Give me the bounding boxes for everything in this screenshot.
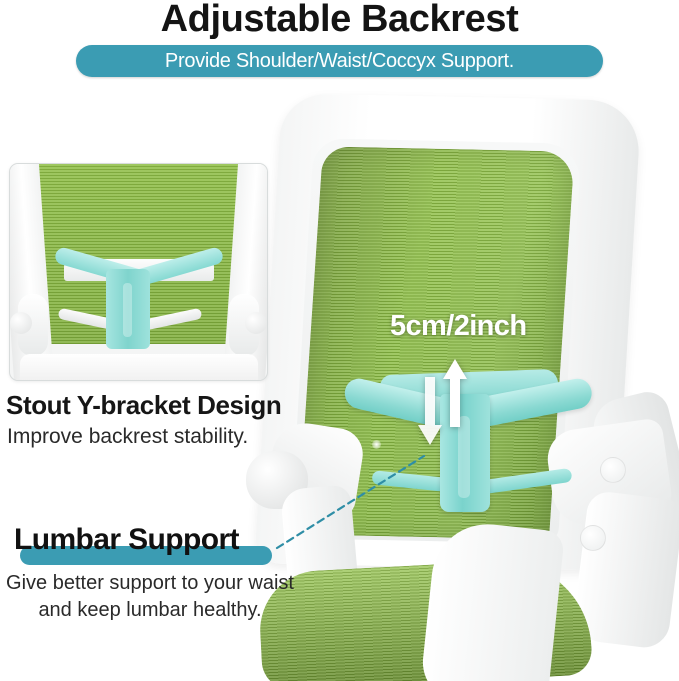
y-bracket-detail-inset [9, 163, 268, 381]
arrow-up-icon [441, 357, 469, 429]
bracket-highlight-glint [372, 440, 381, 449]
right-frame-dimple-upper [600, 457, 626, 483]
y-bracket-heading: Stout Y-bracket Design [6, 390, 281, 421]
inset-bracket-stem [106, 269, 150, 349]
y-bracket-body: Improve backrest stability. [7, 425, 248, 449]
right-frame-dimple-lower [580, 525, 606, 551]
page-title: Adjustable Backrest [0, 0, 679, 41]
lumbar-body: Give better support to your waist and ke… [0, 570, 300, 624]
chair-illustration: 5cm/2inch [250, 95, 679, 681]
bracket-hook-left [371, 470, 446, 492]
subtitle-text: Provide Shoulder/Waist/Coccyx Support. [76, 45, 603, 77]
subtitle-pill: Provide Shoulder/Waist/Coccyx Support. [76, 45, 603, 77]
product-feature-image: Adjustable Backrest Provide Shoulder/Wai… [0, 0, 679, 681]
arrow-down-icon [416, 375, 444, 447]
inset-lower-frame [20, 354, 258, 381]
bracket-hook-right [481, 468, 572, 494]
inset-knob-right [245, 312, 267, 334]
dimension-label: 5cm/2inch [390, 310, 526, 343]
inset-knob-left [10, 312, 32, 334]
lumbar-heading: Lumbar Support [14, 523, 239, 557]
lumbar-heading-group: Lumbar Support [14, 523, 294, 563]
